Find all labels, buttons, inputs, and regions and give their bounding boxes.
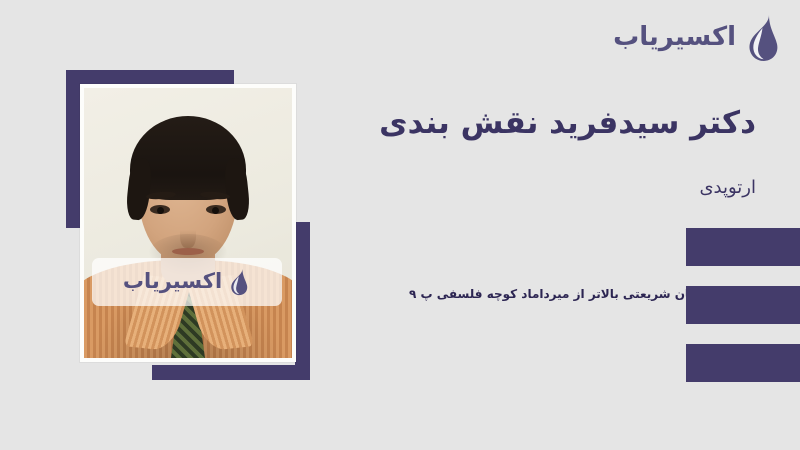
portrait-frame: اکسیریاب bbox=[80, 84, 296, 362]
brand-name: اکسیریاب bbox=[613, 24, 736, 53]
doctor-address: خیابان شریعتی بالاتر از میرداماد کوچه فل… bbox=[409, 286, 712, 303]
flame-logo-icon bbox=[227, 268, 251, 296]
brand-logo: اکسیریاب bbox=[613, 14, 784, 62]
bracket-bottom-right-horizontal bbox=[152, 365, 310, 380]
doctor-name: دکتر سیدفرید نقش بندی bbox=[379, 104, 756, 143]
bracket-bottom-right-vertical bbox=[295, 222, 310, 380]
decor-bar-1 bbox=[686, 228, 800, 266]
decor-bar-2 bbox=[686, 286, 800, 324]
portrait-pupil-right bbox=[212, 207, 219, 214]
portrait-mouth bbox=[172, 248, 204, 255]
portrait-pupil-left bbox=[157, 207, 164, 214]
bracket-top-left-vertical bbox=[66, 70, 81, 228]
portrait-nose bbox=[180, 218, 196, 248]
doctor-portrait-photo: اکسیریاب bbox=[84, 88, 292, 358]
doctor-profile-card: اکسیریاب bbox=[0, 0, 800, 450]
portrait-block: اکسیریاب bbox=[60, 62, 320, 388]
photo-watermark: اکسیریاب bbox=[92, 258, 282, 306]
decor-bar-3 bbox=[686, 344, 800, 382]
watermark-brand-name: اکسیریاب bbox=[123, 271, 222, 294]
doctor-specialty: ارتوپدی bbox=[699, 176, 756, 199]
bracket-top-left-horizontal bbox=[66, 70, 234, 85]
flame-logo-icon bbox=[742, 14, 784, 62]
